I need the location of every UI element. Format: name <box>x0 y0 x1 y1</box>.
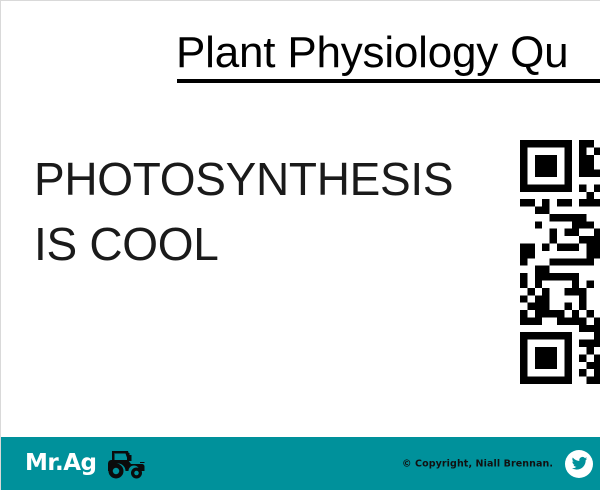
brand-name-label: Mr.Ag <box>25 452 96 475</box>
page-title: Plant Physiology Qu <box>176 27 600 83</box>
tractor-icon <box>105 449 149 479</box>
copyright-notice: © Copyright, Niall Brennan. <box>402 458 553 469</box>
body-text-line-2: IS COOL <box>34 212 504 277</box>
slide-canvas: Plant Physiology Qu PHOTOSYNTHESIS IS CO… <box>0 0 600 490</box>
body-text-line-1: PHOTOSYNTHESIS <box>34 147 504 212</box>
twitter-link[interactable] <box>565 450 593 478</box>
title-underline <box>177 79 600 83</box>
qr-code-graphic <box>520 140 600 384</box>
brand-logo[interactable]: Mr.Ag <box>25 449 149 479</box>
twitter-icon <box>571 455 588 472</box>
qr-code[interactable] <box>520 140 600 384</box>
footer-bar: Mr.Ag <box>1 437 600 490</box>
body-text-block: PHOTOSYNTHESIS IS COOL <box>34 147 504 277</box>
